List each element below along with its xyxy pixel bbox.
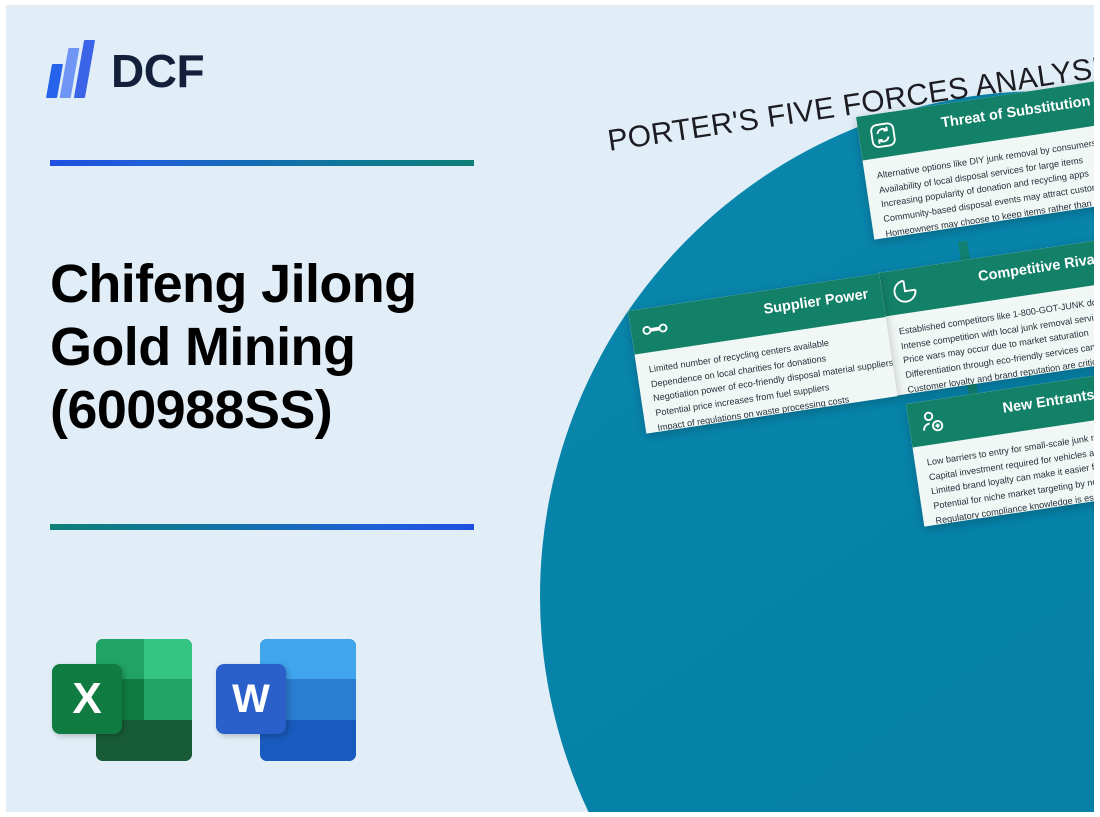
dcf-bars-logo-icon: [47, 40, 101, 102]
card-title: Supplier Power: [763, 286, 870, 317]
excel-file-icon[interactable]: X: [52, 635, 192, 761]
poster-canvas: PORTER'S FIVE FORCES ANALYSIS: [6, 5, 1094, 812]
brand-name: DCF: [111, 48, 204, 94]
left-panel: DCF Chifeng Jilong Gold Mining (600988SS…: [6, 5, 546, 812]
divider-top: [50, 160, 474, 166]
refresh-cycle-icon: [867, 119, 899, 151]
excel-badge-letter: X: [52, 664, 122, 734]
card-title: Competitive Rivalry: [977, 249, 1094, 285]
pie-chart-icon: [889, 275, 921, 307]
page-title: Chifeng Jilong Gold Mining (600988SS): [50, 253, 470, 443]
handshake-link-icon: [639, 313, 671, 345]
dcf-logo[interactable]: DCF: [47, 40, 204, 102]
file-format-icons: X W: [52, 635, 356, 761]
user-add-icon: [917, 406, 949, 438]
page-root: PORTER'S FIVE FORCES ANALYSIS: [0, 0, 1100, 817]
word-file-icon[interactable]: W: [216, 635, 356, 761]
word-badge-letter: W: [216, 664, 286, 734]
divider-bottom: [50, 524, 474, 530]
